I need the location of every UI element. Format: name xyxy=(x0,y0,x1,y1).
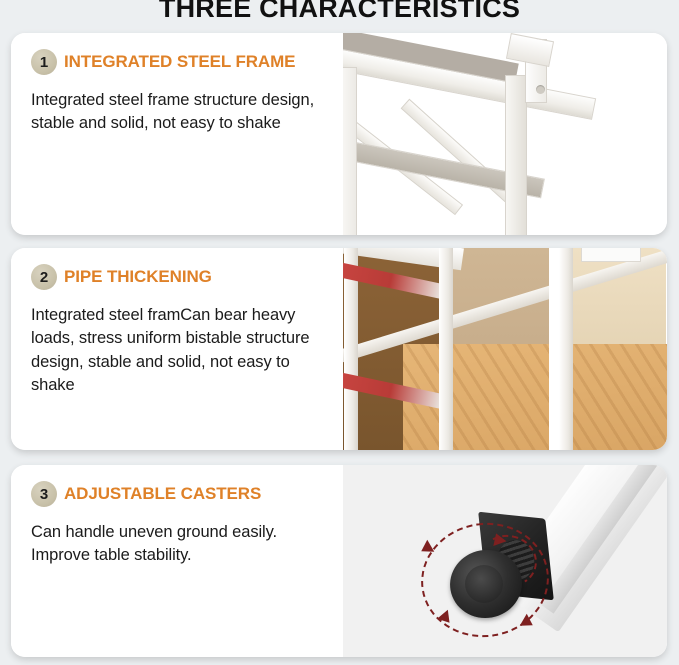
shelf-post-c xyxy=(439,248,453,450)
frame-right-post xyxy=(505,75,527,235)
image-divider xyxy=(549,248,559,450)
shelf-label-tag xyxy=(581,248,641,262)
step-number-badge-1: 1 xyxy=(31,49,57,75)
feature-card-2-text: 2 PIPE THICKENING Integrated steel framC… xyxy=(11,248,343,450)
feature-card-3-text: 3 ADJUSTABLE CASTERS Can handle uneven g… xyxy=(11,465,343,657)
feature-card-3-heading-row: 3 ADJUSTABLE CASTERS xyxy=(31,481,325,507)
feature-card-3: 3 ADJUSTABLE CASTERS Can handle uneven g… xyxy=(11,465,667,657)
adjustable-caster-photo xyxy=(343,465,667,657)
page-title: THREE CHARACTERISTICS xyxy=(0,0,679,24)
thickened-pipe-photo xyxy=(343,248,667,450)
feature-card-1-title: INTEGRATED STEEL FRAME xyxy=(64,52,295,72)
feature-card-1-heading-row: 1 INTEGRATED STEEL FRAME xyxy=(31,49,325,75)
shelf-post-d xyxy=(559,248,573,450)
feature-card-2-description: Integrated steel framCan bear heavy load… xyxy=(31,304,325,398)
frame-bolt-icon xyxy=(536,85,545,94)
feature-card-1: 1 INTEGRATED STEEL FRAME Integrated stee… xyxy=(11,33,667,235)
step-number-badge-3: 3 xyxy=(31,481,57,507)
frame-left-post xyxy=(343,67,357,235)
feature-card-2-title: PIPE THICKENING xyxy=(64,267,212,287)
steel-frame-photo xyxy=(343,33,667,235)
feature-card-2: 2 PIPE THICKENING Integrated steel framC… xyxy=(11,248,667,450)
feature-card-3-title: ADJUSTABLE CASTERS xyxy=(64,484,261,504)
feature-card-2-heading-row: 2 PIPE THICKENING xyxy=(31,264,325,290)
feature-card-3-description: Can handle uneven ground easily. Improve… xyxy=(31,521,325,568)
feature-card-1-description: Integrated steel frame structure design,… xyxy=(31,89,325,136)
feature-card-1-text: 1 INTEGRATED STEEL FRAME Integrated stee… xyxy=(11,33,343,235)
step-number-badge-2: 2 xyxy=(31,264,57,290)
